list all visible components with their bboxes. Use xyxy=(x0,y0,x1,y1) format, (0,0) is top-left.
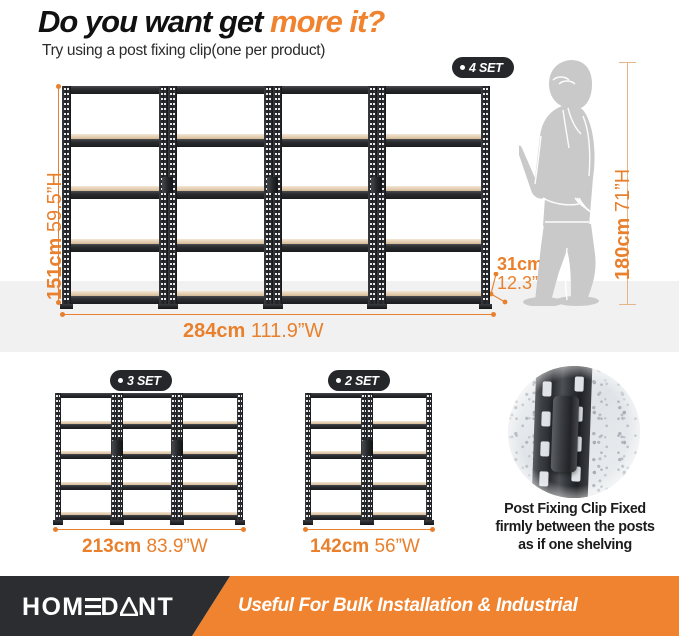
post-fixing-clip-icon xyxy=(267,177,278,193)
post-fixing-clip-icon xyxy=(172,440,183,456)
dim-2set-cap-right xyxy=(430,527,435,532)
dim-width-cm: 284cm xyxy=(183,320,245,342)
headline-main: Do you want get xyxy=(38,4,270,39)
dim-width-cap-right xyxy=(491,312,496,317)
rack-foot xyxy=(367,304,387,309)
rack-foot xyxy=(235,520,245,525)
page-subtitle: Try using a post fixing clip(one per pro… xyxy=(42,42,325,60)
variant-rack-2-set xyxy=(305,393,432,520)
post-fixing-clip-icon xyxy=(112,440,123,456)
dim-2set-line xyxy=(306,529,432,530)
post-fixing-clip-photo xyxy=(508,366,640,498)
variant-rack-3-set xyxy=(55,393,243,520)
page-title: Do you want get more it? xyxy=(38,4,384,40)
dim-3set-cap-right xyxy=(241,527,246,532)
rack-foot xyxy=(158,304,178,309)
post-fixing-clip-icon xyxy=(362,440,373,456)
rack-post xyxy=(481,86,490,304)
badge-dot-icon xyxy=(336,378,341,383)
rack-post xyxy=(168,86,177,304)
badge-2-set: 2 SET xyxy=(328,370,390,391)
logo-part-1: HOM xyxy=(22,593,85,622)
rack-foot xyxy=(424,520,434,525)
brand-logo: HOM D NT xyxy=(22,593,174,622)
shelf-beam xyxy=(55,515,243,520)
rack-post xyxy=(62,86,71,304)
logo-part-2: D xyxy=(101,593,120,622)
rack-foot xyxy=(60,304,73,309)
rack-post xyxy=(117,393,123,520)
rack-post xyxy=(55,393,61,520)
badge-3-set-label: 3 SET xyxy=(127,374,161,388)
rack-post xyxy=(273,86,282,304)
person-silhouette xyxy=(519,58,639,306)
logo-a-glyph-icon xyxy=(120,597,138,616)
main-shelving-rack xyxy=(62,86,490,304)
rack-post xyxy=(367,393,373,520)
headline-accent: more it? xyxy=(270,4,384,39)
infographic-page: Do you want get more it? Try using a pos… xyxy=(0,0,679,636)
rack-foot xyxy=(303,520,313,525)
footer-banner: HOM D NT Useful For Bulk Installation & … xyxy=(0,576,679,636)
rack-post xyxy=(368,86,377,304)
dim-3set-cm: 213cm xyxy=(82,536,141,557)
shelf-beam xyxy=(55,424,243,429)
badge-dot-icon xyxy=(460,65,465,70)
dim-2set-inch: 56”W xyxy=(374,536,419,557)
logo-e-glyph-icon xyxy=(85,597,101,616)
rack-post xyxy=(377,86,386,304)
badge-4-set: 4 SET xyxy=(452,57,514,78)
dim-depth-leader xyxy=(487,272,521,312)
photo-vignette xyxy=(508,366,640,498)
dim-2set-width-label: 142cm 56”W xyxy=(310,536,420,558)
rack-post xyxy=(264,86,273,304)
dim-2set-cm: 142cm xyxy=(310,536,369,557)
clip-feature-caption: Post Fixing Clip Fixed firmly between th… xyxy=(474,500,676,554)
rack-post xyxy=(305,393,311,520)
caption-line-2: firmly between the posts xyxy=(495,519,654,535)
footer-tagline: Useful For Bulk Installation & Industria… xyxy=(238,595,577,617)
dim-width-inch: 111.9”W xyxy=(251,320,324,342)
rack-foot xyxy=(170,520,184,525)
rack-post xyxy=(426,393,432,520)
badge-2-set-label: 2 SET xyxy=(345,374,379,388)
rack-foot xyxy=(53,520,63,525)
rack-foot xyxy=(479,304,492,309)
badge-4-set-label: 4 SET xyxy=(469,61,503,75)
rack-foot xyxy=(263,304,283,309)
logo-part-3: NT xyxy=(138,593,174,622)
badge-3-set: 3 SET xyxy=(110,370,172,391)
rack-foot xyxy=(110,520,124,525)
dim-3set-line xyxy=(56,529,243,530)
rack-post xyxy=(177,393,183,520)
post-fixing-clip-icon xyxy=(162,177,173,193)
rack-foot xyxy=(360,520,374,525)
rack-post xyxy=(237,393,243,520)
caption-line-1: Post Fixing Clip Fixed xyxy=(504,501,646,517)
dim-3set-width-label: 213cm 83.9”W xyxy=(82,536,208,558)
badge-dot-icon xyxy=(118,378,123,383)
dim-3set-inch: 83.9”W xyxy=(146,536,207,557)
dim-width-label: 284cm 111.9”W xyxy=(183,320,323,343)
caption-line-3: as if one shelving xyxy=(518,537,632,553)
shelf-beam xyxy=(55,454,243,459)
post-fixing-clip-icon xyxy=(371,177,382,193)
rack-post xyxy=(159,86,168,304)
shelf-beam xyxy=(55,393,243,398)
dim-width-line xyxy=(63,314,493,315)
shelf-beam xyxy=(55,485,243,490)
